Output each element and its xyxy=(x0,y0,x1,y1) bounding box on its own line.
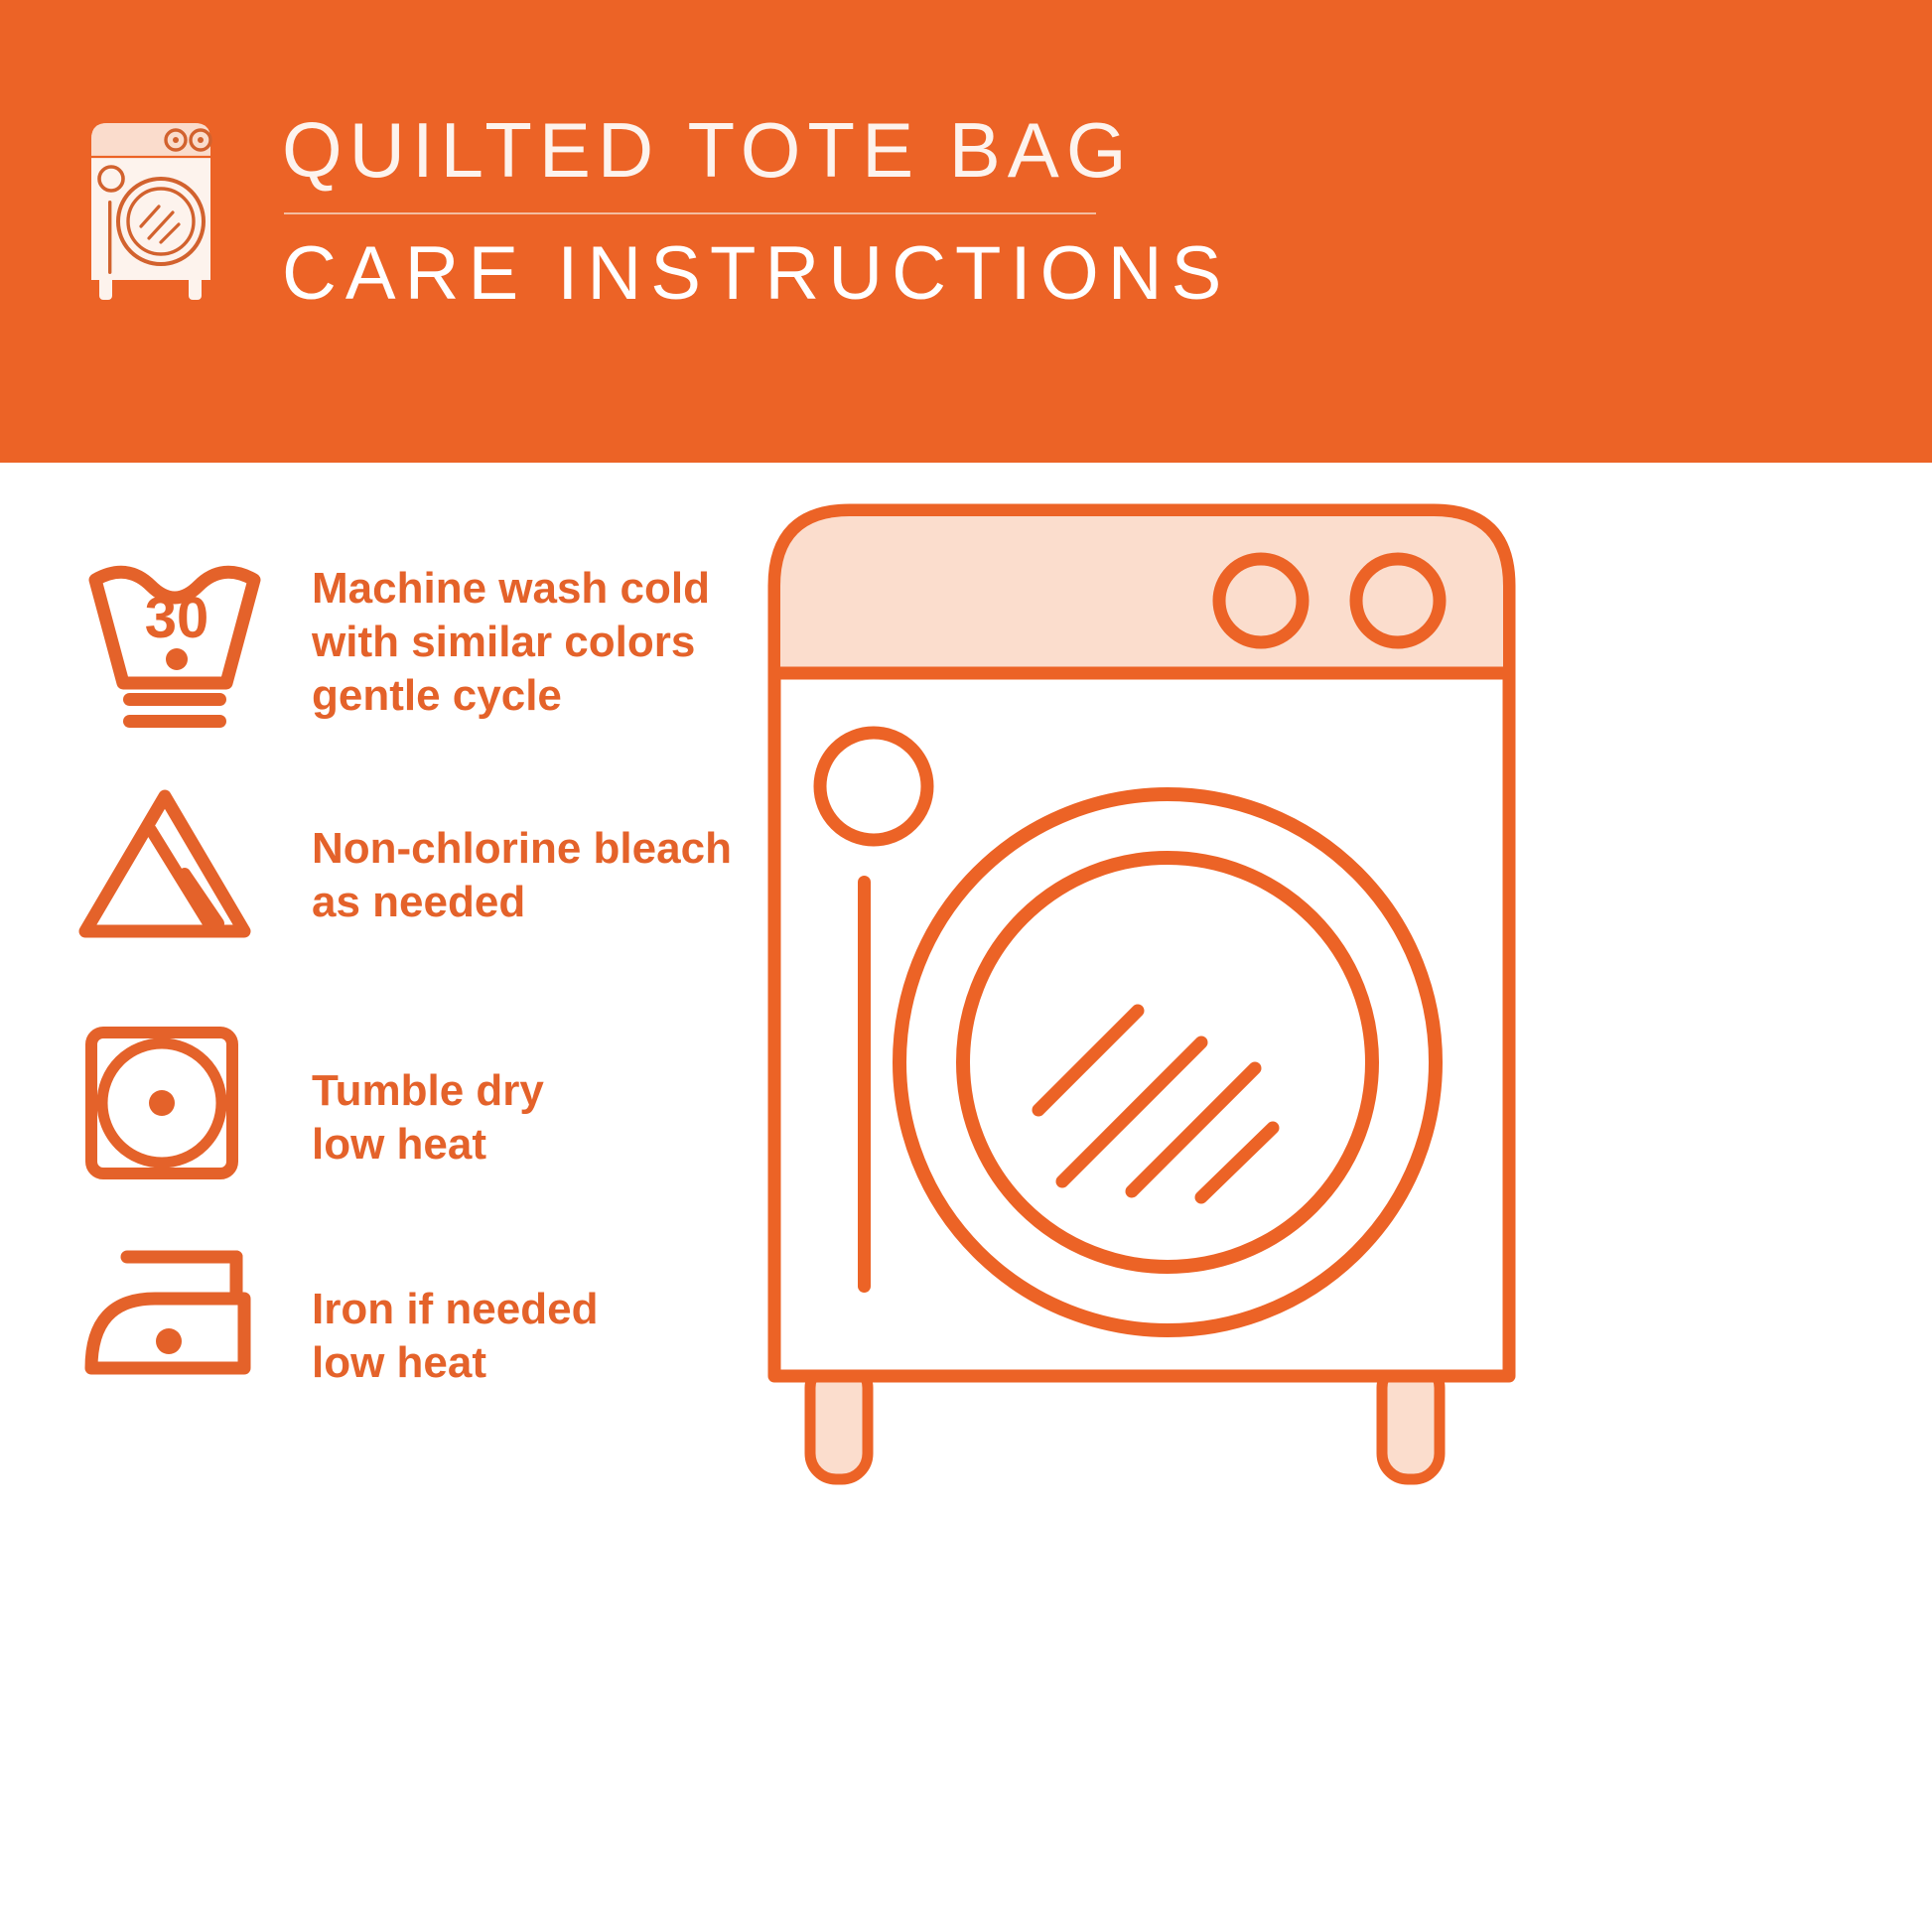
care-text-machine-wash: Machine wash cold with similar colors ge… xyxy=(312,562,710,723)
care-instructions-page: QUILTED TOTE BAG CARE INSTRUCTIONS 30 Ma… xyxy=(0,0,1932,1932)
care-text-line: low heat xyxy=(312,1118,544,1172)
care-text-line: Tumble dry xyxy=(312,1064,544,1118)
care-text-bleach: Non-chlorine bleach as needed xyxy=(312,822,732,929)
washer-knob-right xyxy=(1356,559,1440,642)
care-row-iron: Iron if needed low heat xyxy=(77,1243,598,1397)
header-banner: QUILTED TOTE BAG CARE INSTRUCTIONS xyxy=(0,0,1932,463)
washing-machine-logo-icon xyxy=(77,117,226,306)
care-row-bleach: Non-chlorine bleach as needed xyxy=(77,782,732,954)
care-text-iron: Iron if needed low heat xyxy=(312,1283,598,1390)
care-text-line: Iron if needed xyxy=(312,1283,598,1336)
care-text-line: Non-chlorine bleach xyxy=(312,822,732,876)
washer-vertical-bar xyxy=(858,876,871,1293)
wash-tub-30-gentle-icon: 30 xyxy=(77,556,272,740)
page-title: QUILTED TOTE BAG xyxy=(282,111,1230,189)
care-row-machine-wash: 30 Machine wash cold with similar colors… xyxy=(77,556,710,740)
care-text-line: gentle cycle xyxy=(312,669,710,723)
iron-low-heat-icon xyxy=(77,1243,272,1397)
washing-machine-illustration xyxy=(764,496,1549,1499)
care-text-line: Machine wash cold xyxy=(312,562,710,616)
care-text-line: low heat xyxy=(312,1336,598,1390)
page-subtitle: CARE INSTRUCTIONS xyxy=(282,236,1230,312)
tumble-dry-low-heat-icon xyxy=(77,1023,272,1186)
title-divider xyxy=(284,212,1096,214)
care-text-line: with similar colors xyxy=(312,616,710,669)
non-chlorine-bleach-triangle-icon xyxy=(77,782,272,954)
care-text-line: as needed xyxy=(312,876,732,929)
wash-temperature-value: 30 xyxy=(145,586,209,650)
care-text-tumble-dry: Tumble dry low heat xyxy=(312,1064,544,1172)
header-content: QUILTED TOTE BAG CARE INSTRUCTIONS xyxy=(77,117,1230,312)
care-row-tumble-dry: Tumble dry low heat xyxy=(77,1023,544,1186)
header-title-block: QUILTED TOTE BAG CARE INSTRUCTIONS xyxy=(282,111,1230,312)
washer-knob-left xyxy=(1219,559,1303,642)
